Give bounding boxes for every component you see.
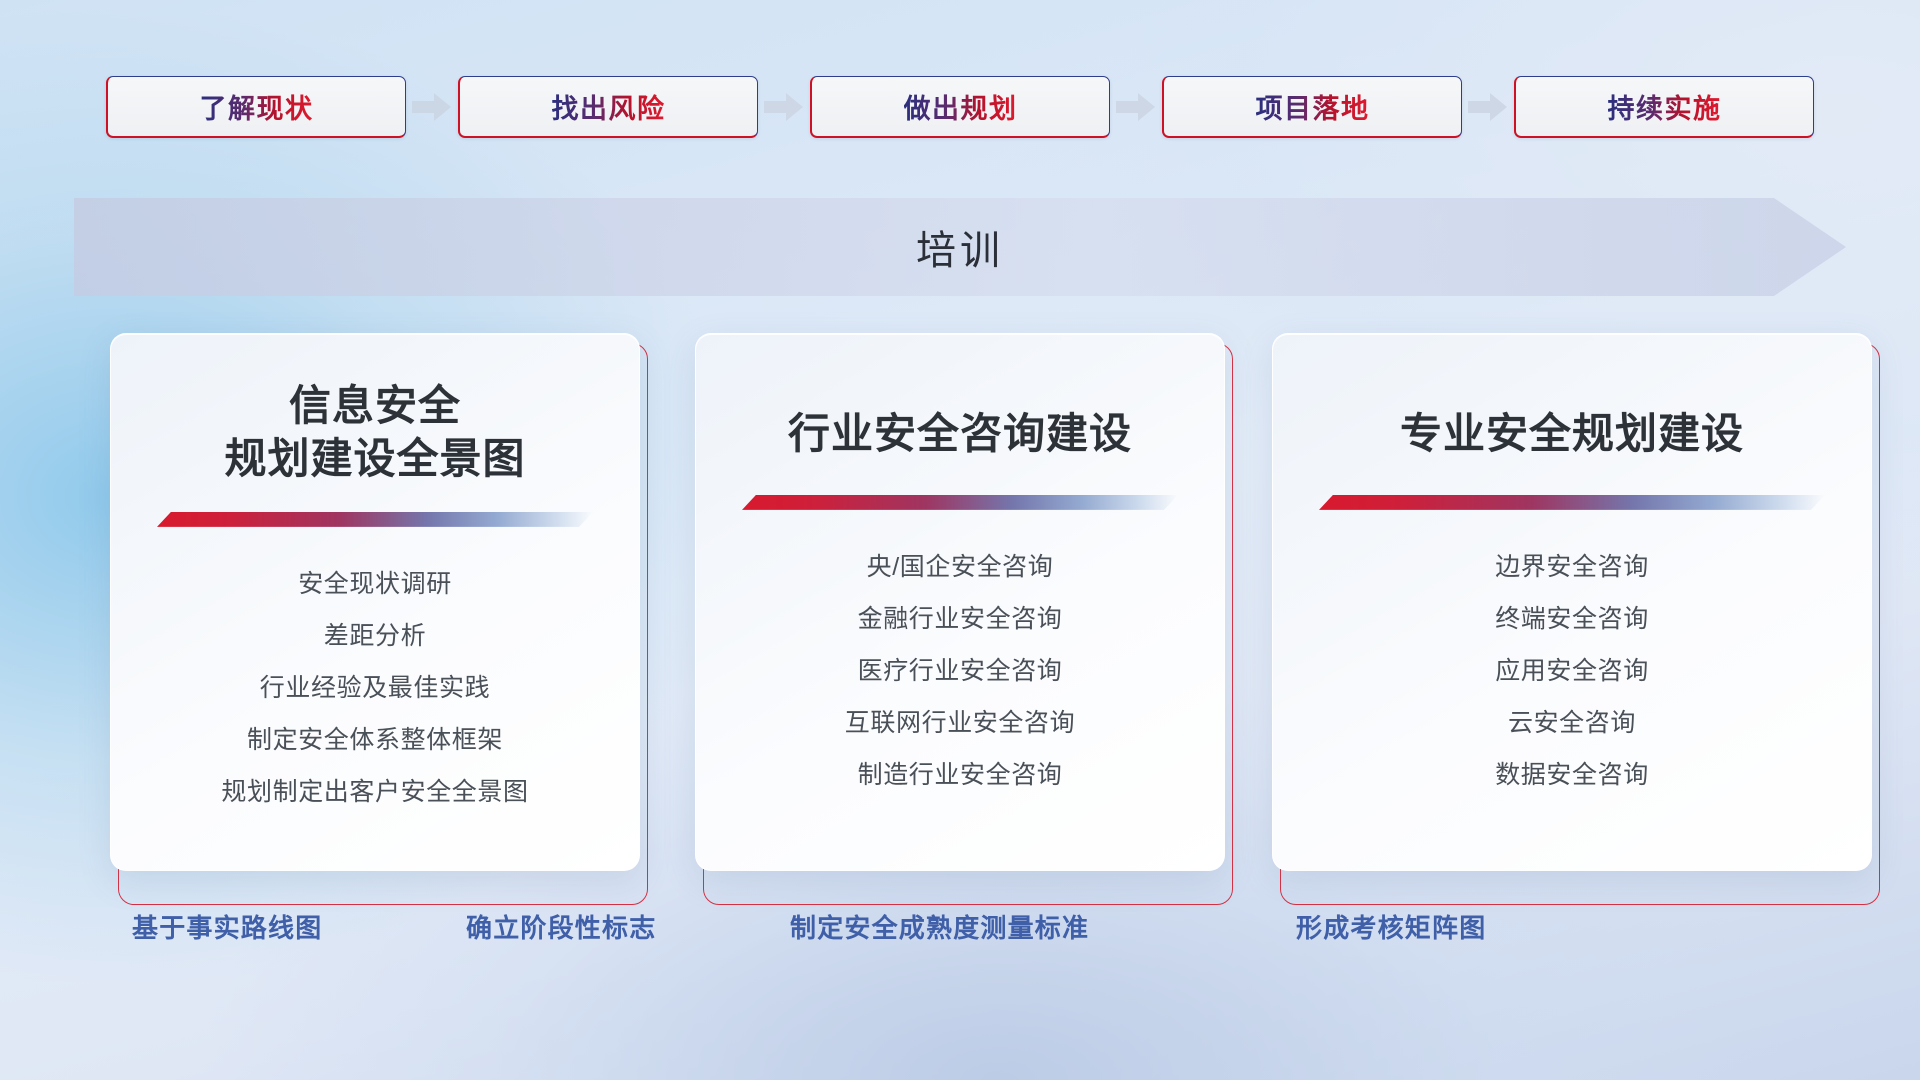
card-group: 信息安全 规划建设全景图 安全现状调研 差距分析 行业经验及最佳实践 制定安全体…: [0, 333, 1920, 893]
caption-row: 基于事实路线图 确立阶段性标志 制定安全成熟度测量标准 形成考核矩阵图: [0, 908, 1920, 960]
chevron-right-arrow-icon: [1462, 76, 1514, 138]
chevron-right-arrow-icon: [1110, 76, 1162, 138]
flow-step-1[interactable]: 找出风险: [458, 76, 758, 138]
list-item: 制定安全体系整体框架: [247, 719, 503, 761]
list-item: 数据安全咨询: [1495, 754, 1649, 796]
card-2[interactable]: 专业安全规划建设 边界安全咨询 终端安全咨询 应用安全咨询 云安全咨询 数据安全…: [1272, 333, 1872, 893]
card-divider: [157, 512, 593, 527]
flow-step-4[interactable]: 持续实施: [1514, 76, 1814, 138]
chevron-right-arrow-icon: [758, 76, 810, 138]
list-item: 金融行业安全咨询: [858, 598, 1063, 640]
flow-step-label: 找出风险: [552, 87, 666, 126]
chevron-right-arrow-icon: [406, 76, 458, 138]
list-item: 互联网行业安全咨询: [845, 702, 1075, 744]
card-1[interactable]: 行业安全咨询建设 央/国企安全咨询 金融行业安全咨询 医疗行业安全咨询 互联网行…: [695, 333, 1225, 893]
process-flow-steps: 了解现状 找出风险 做出规划 项目落地 持续实施: [0, 72, 1920, 142]
slide-canvas: 了解现状 找出风险 做出规划 项目落地 持续实施 培训: [0, 0, 1920, 1080]
card-divider: [742, 495, 1178, 510]
caption-3: 形成考核矩阵图: [1296, 908, 1486, 945]
caption-2: 制定安全成熟度测量标准: [790, 908, 1089, 945]
list-item: 终端安全咨询: [1495, 598, 1649, 640]
flow-step-label: 持续实施: [1608, 87, 1722, 126]
flow-step-label: 做出规划: [904, 87, 1018, 126]
list-item: 制造行业安全咨询: [858, 754, 1063, 796]
card-item-list: 央/国企安全咨询 金融行业安全咨询 医疗行业安全咨询 互联网行业安全咨询 制造行…: [722, 546, 1198, 796]
card-divider: [1319, 495, 1825, 510]
list-item: 应用安全咨询: [1495, 650, 1649, 692]
list-item: 差距分析: [324, 615, 426, 657]
flow-step-label: 项目落地: [1256, 87, 1370, 126]
banner-title: 培训: [916, 218, 1004, 276]
list-item: 行业经验及最佳实践: [260, 667, 490, 709]
flow-step-2[interactable]: 做出规划: [810, 76, 1110, 138]
list-item: 边界安全咨询: [1495, 546, 1649, 588]
list-item: 云安全咨询: [1508, 702, 1636, 744]
training-banner: 培训: [74, 198, 1846, 296]
card-title: 专业安全规划建设: [1400, 408, 1744, 461]
flow-step-3[interactable]: 项目落地: [1162, 76, 1462, 138]
card-item-list: 边界安全咨询 终端安全咨询 应用安全咨询 云安全咨询 数据安全咨询: [1299, 546, 1845, 796]
flow-step-0[interactable]: 了解现状: [106, 76, 406, 138]
list-item: 规划制定出客户安全全景图: [221, 771, 528, 813]
card-item-list: 安全现状调研 差距分析 行业经验及最佳实践 制定安全体系整体框架 规划制定出客户…: [137, 563, 613, 813]
caption-1: 确立阶段性标志: [466, 908, 656, 945]
card-title: 行业安全咨询建设: [788, 408, 1132, 461]
caption-0: 基于事实路线图: [132, 908, 322, 945]
list-item: 医疗行业安全咨询: [858, 650, 1063, 692]
list-item: 央/国企安全咨询: [867, 546, 1054, 588]
flow-step-label: 了解现状: [200, 87, 314, 126]
card-0[interactable]: 信息安全 规划建设全景图 安全现状调研 差距分析 行业经验及最佳实践 制定安全体…: [110, 333, 640, 893]
card-title: 信息安全 规划建设全景图: [224, 380, 525, 486]
list-item: 安全现状调研: [298, 563, 452, 605]
